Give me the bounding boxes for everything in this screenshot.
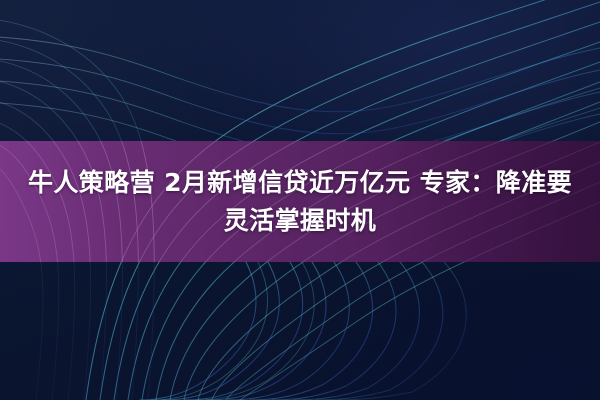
banner-image: 牛人策略营 2月新增信贷近万亿元 专家：降准要 灵活掌握时机 xyxy=(0,0,600,400)
headline-line-1: 牛人策略营 2月新增信贷近万亿元 专家：降准要 xyxy=(28,166,572,200)
headline-line-2: 灵活掌握时机 xyxy=(224,204,376,238)
headline-text-block: 牛人策略营 2月新增信贷近万亿元 专家：降准要 灵活掌握时机 xyxy=(0,141,600,262)
